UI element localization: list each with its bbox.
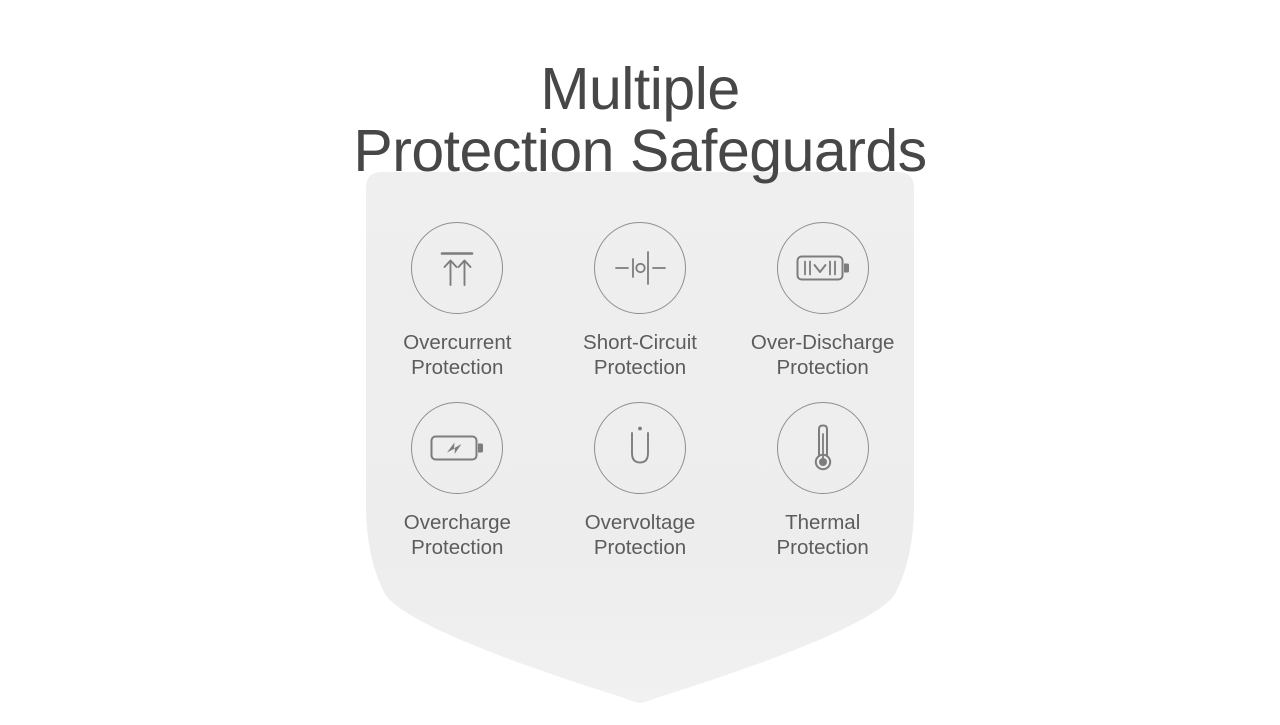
short-circuit-contacts-icon — [612, 240, 668, 296]
overcharge-icon-ring — [411, 402, 503, 494]
overcurrent-arrows-icon — [429, 240, 485, 296]
feature-item-overcurrent[interactable]: Overcurrent Protection — [366, 222, 549, 380]
short-circuit-icon-ring — [594, 222, 686, 314]
feature-label-line-2: Protection — [404, 535, 511, 560]
feature-item-thermal[interactable]: Thermal Protection — [731, 402, 914, 560]
protection-safeguards-slide: Multiple Protection Safeguards Overcurre… — [0, 0, 1280, 720]
feature-label-line-1: Overvoltage — [585, 511, 696, 534]
feature-item-overcharge[interactable]: Overcharge Protection — [366, 402, 549, 560]
overvoltage-icon-ring — [594, 402, 686, 494]
feature-item-over-discharge[interactable]: Over-Discharge Protection — [731, 222, 914, 380]
protection-feature-grid: Overcurrent Protection Short-Circui — [366, 222, 914, 560]
feature-item-overvoltage[interactable]: Overvoltage Protection — [549, 402, 732, 560]
feature-label-line-2: Protection — [403, 355, 511, 380]
battery-discharge-down-icon — [793, 240, 853, 296]
feature-label-line-1: Over-Discharge — [751, 331, 895, 354]
feature-label-line-2: Protection — [751, 355, 895, 380]
feature-item-short-circuit[interactable]: Short-Circuit Protection — [549, 222, 732, 380]
overcurrent-icon-ring — [411, 222, 503, 314]
thermometer-icon — [795, 418, 851, 478]
battery-bolt-icon — [427, 420, 487, 476]
feature-label-over-discharge: Over-Discharge Protection — [751, 330, 895, 380]
feature-label-line-2: Protection — [583, 355, 697, 380]
feature-label-line-1: Short-Circuit — [583, 331, 697, 354]
feature-label-thermal: Thermal Protection — [777, 510, 869, 560]
feature-label-short-circuit: Short-Circuit Protection — [583, 330, 697, 380]
page-title-line-2: Protection Safeguards — [0, 120, 1280, 182]
feature-label-overvoltage: Overvoltage Protection — [585, 510, 696, 560]
feature-label-line-2: Protection — [585, 535, 696, 560]
page-title: Multiple Protection Safeguards — [0, 58, 1280, 182]
page-title-line-1: Multiple — [0, 58, 1280, 120]
feature-label-line-1: Overcharge — [404, 511, 511, 534]
feature-label-line-1: Thermal — [785, 511, 860, 534]
feature-label-line-1: Overcurrent — [403, 331, 511, 354]
thermal-icon-ring — [777, 402, 869, 494]
over-discharge-icon-ring — [777, 222, 869, 314]
voltage-u-symbol-icon — [612, 420, 668, 476]
feature-label-overcurrent: Overcurrent Protection — [403, 330, 511, 380]
feature-label-line-2: Protection — [777, 535, 869, 560]
feature-label-overcharge: Overcharge Protection — [404, 510, 511, 560]
